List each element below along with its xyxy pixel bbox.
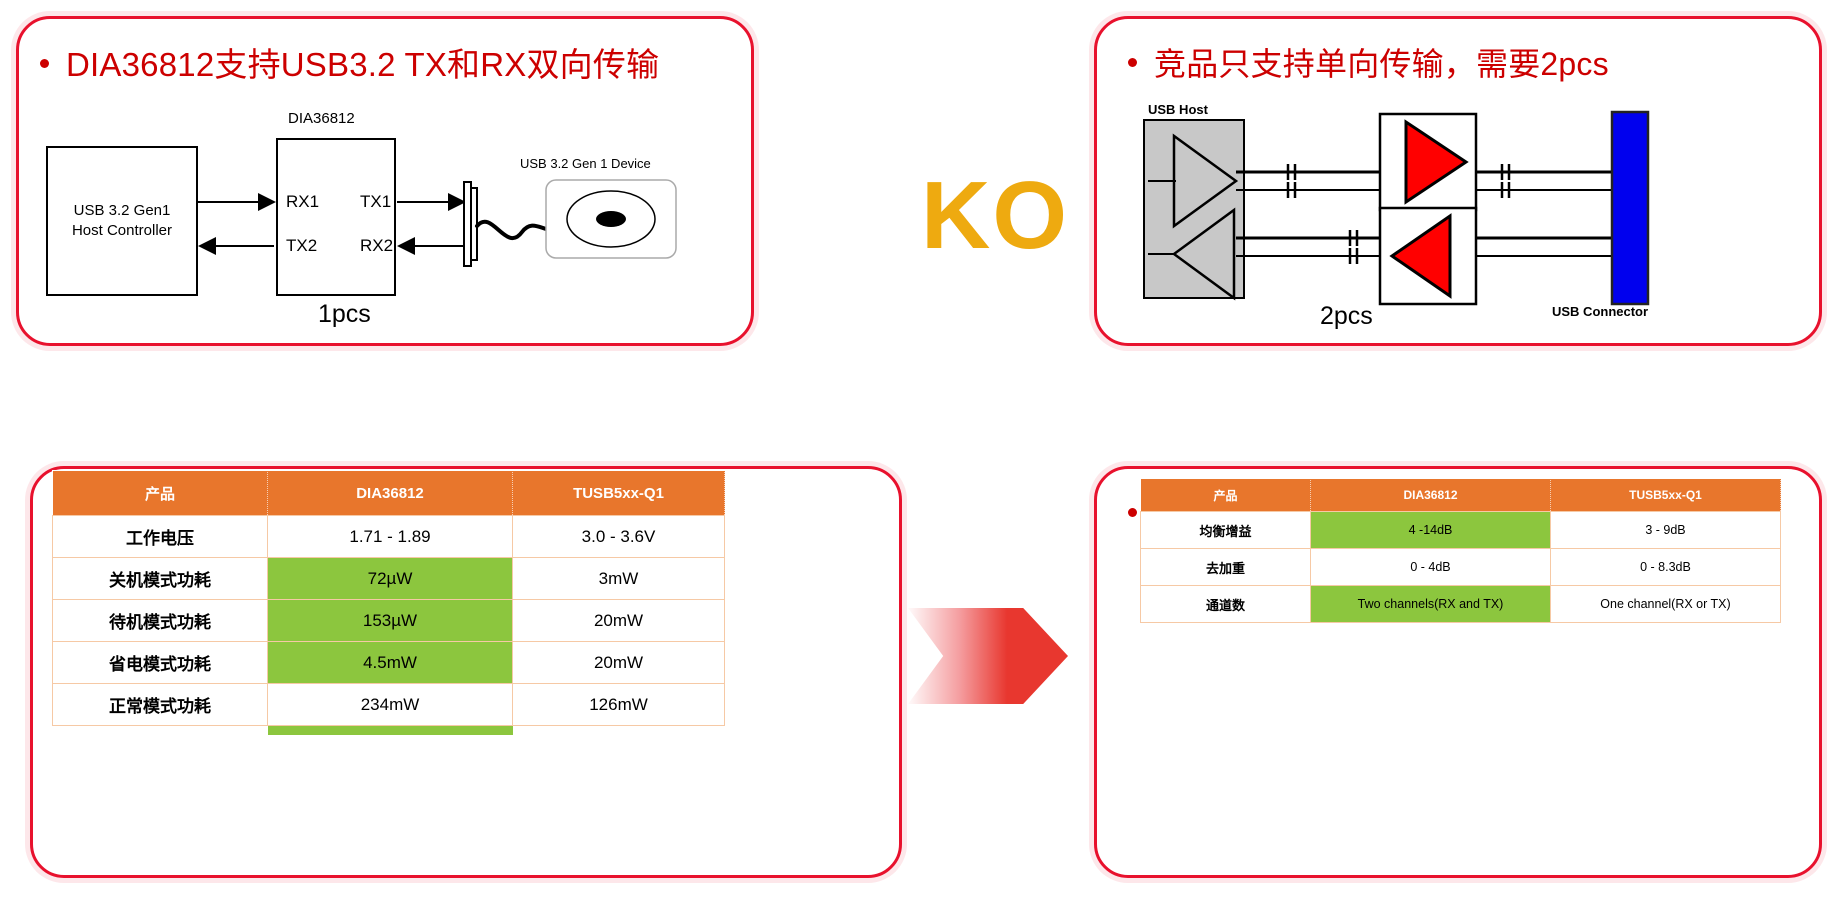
row-label: 正常模式功耗 (53, 684, 268, 726)
row-label: 省电模式功耗 (53, 642, 268, 684)
diagram-wires (40, 108, 730, 338)
col-header-tusb5xx: TUSB5xx-Q1 (1551, 479, 1781, 512)
row-label: 待机模式功耗 (53, 600, 268, 642)
cell-dia36812: 1.71 - 1.89 (268, 516, 513, 558)
table-row: 通道数Two channels(RX and TX)One channel(RX… (1141, 586, 1781, 623)
cell-tusb5xx: 3 - 9dB (1551, 512, 1781, 549)
col-header-tusb5xx: TUSB5xx-Q1 (513, 471, 725, 516)
col-header-dia36812: DIA36812 (1311, 479, 1551, 512)
table-row: 正常模式功耗234mW126mW (53, 684, 725, 726)
cell-tusb5xx: 0 - 8.3dB (1551, 549, 1781, 586)
row-label: 关机模式功耗 (53, 558, 268, 600)
heading-top-left-text: DIA36812支持USB3.2 TX和RX双向传输 (66, 48, 659, 81)
row-label: 工作电压 (53, 516, 268, 558)
bullet-dot-icon (1128, 58, 1137, 67)
table-header-row: 产品 DIA36812 TUSB5xx-Q1 (53, 471, 725, 516)
table-row: 去加重0 - 4dB0 - 8.3dB (1141, 549, 1781, 586)
table-header-row: 产品 DIA36812 TUSB5xx-Q1 (1141, 479, 1781, 512)
cell-tusb5xx: 20mW (513, 642, 725, 684)
cell-dia36812: 234mW (268, 684, 513, 726)
table-row: 待机模式功耗153µW20mW (53, 600, 725, 642)
bullet-dot-icon (1128, 508, 1137, 517)
count-label-1pcs: 1pcs (318, 300, 371, 329)
col-header-dia36812: DIA36812 (268, 471, 513, 516)
col-header-product: 产品 (1141, 479, 1311, 512)
tail-blank (513, 726, 725, 736)
cell-tusb5xx: One channel(RX or TX) (1551, 586, 1781, 623)
table-row: 关机模式功耗72µW3mW (53, 558, 725, 600)
col-header-product: 产品 (53, 471, 268, 516)
cell-tusb5xx: 20mW (513, 600, 725, 642)
diagram-unidirectional-svg (1130, 98, 1790, 328)
cell-dia36812: 4.5mW (268, 642, 513, 684)
table-row: 工作电压1.71 - 1.893.0 - 3.6V (53, 516, 725, 558)
bullet-dot-icon (40, 59, 49, 68)
tail-green-strip (268, 726, 513, 736)
heading-top-left: DIA36812支持USB3.2 TX和RX双向传输 (40, 48, 659, 81)
cell-dia36812: Two channels(RX and TX) (1311, 586, 1551, 623)
cell-dia36812: 0 - 4dB (1311, 549, 1551, 586)
cell-dia36812: 153µW (268, 600, 513, 642)
cell-tusb5xx: 3.0 - 3.6V (513, 516, 725, 558)
cell-dia36812: 4 -14dB (1311, 512, 1551, 549)
table-row: 省电模式功耗4.5mW20mW (53, 642, 725, 684)
row-label: 通道数 (1141, 586, 1311, 623)
count-label-2pcs: 2pcs (1320, 302, 1373, 331)
cell-tusb5xx: 3mW (513, 558, 725, 600)
tail-blank (53, 726, 268, 736)
cell-dia36812: 72µW (268, 558, 513, 600)
table-row: 均衡增益4 -14dB3 - 9dB (1141, 512, 1781, 549)
heading-top-right: 竞品只支持单向传输，需要2pcs (1128, 48, 1609, 80)
ko-label: KO (900, 168, 1090, 264)
heading-top-right-text: 竞品只支持单向传输，需要2pcs (1154, 48, 1609, 80)
diagram-unidirectional: USB Host USB Connector (1130, 98, 1790, 328)
row-label: 去加重 (1141, 549, 1311, 586)
table-tail-strip (53, 726, 725, 736)
power-comparison-table: 产品 DIA36812 TUSB5xx-Q1 工作电压1.71 - 1.893.… (52, 470, 725, 735)
cell-tusb5xx: 126mW (513, 684, 725, 726)
eq-comparison-table: 产品 DIA36812 TUSB5xx-Q1 均衡增益4 -14dB3 - 9d… (1140, 478, 1781, 623)
row-label: 均衡增益 (1141, 512, 1311, 549)
chevron-arrow-icon (908, 608, 1068, 704)
diagram-bidirectional: DIA36812 USB 3.2 Gen 1 Device USB 3.2 Ge… (40, 108, 730, 338)
